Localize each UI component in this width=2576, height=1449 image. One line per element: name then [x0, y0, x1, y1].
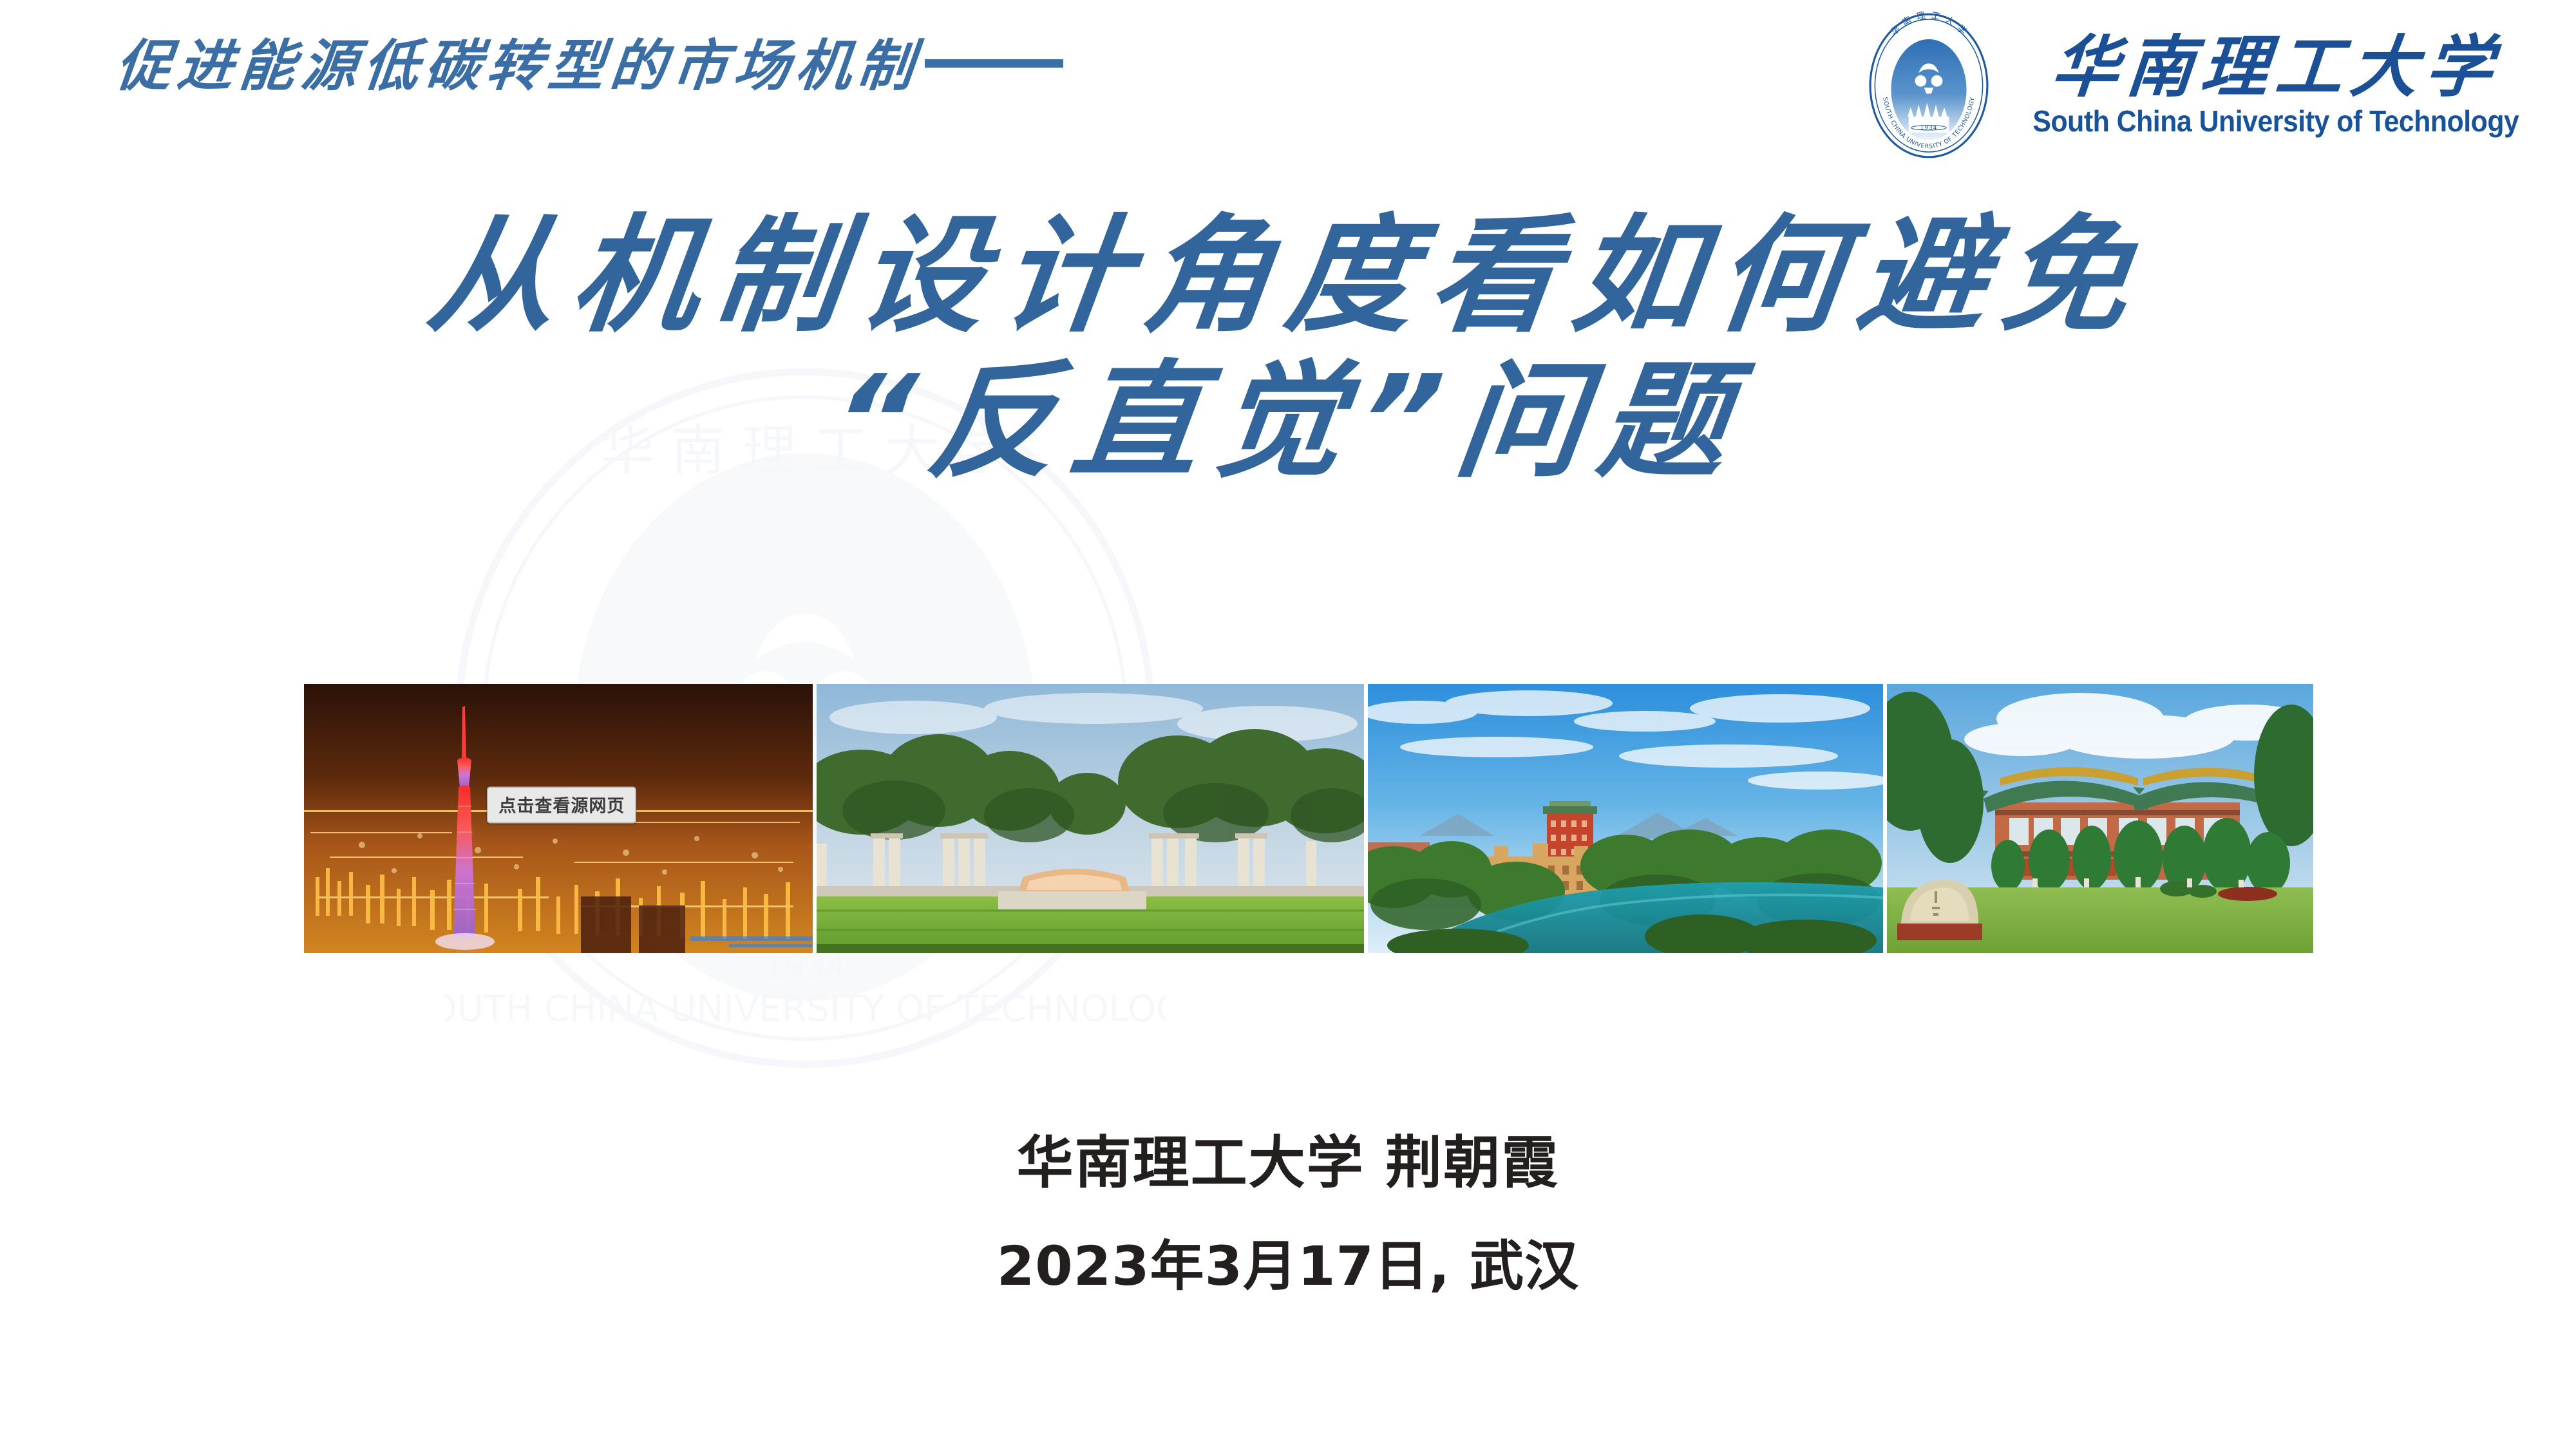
footer-date: 2023年3月17日, 武汉	[0, 1235, 2576, 1298]
title-slide: 华 南 理 工 大 学 SOUTH CHINA UNIVERSITY OF TE…	[0, 0, 2576, 1449]
logo-wordmark: 华南理工大学 South China University of Technol…	[2014, 33, 2537, 138]
logo-name-en: South China University of Technology	[2033, 104, 2519, 138]
header-subtitle: 促进能源低碳转型的市场机制	[116, 39, 1063, 94]
photo-campus-aerial-river-view	[1368, 684, 1883, 953]
title-line-2: “反直觉”问题	[0, 352, 2576, 493]
source-link-badge[interactable]: 点击查看源网页	[487, 787, 636, 824]
header-subtitle-text: 促进能源低碳转型的市场机制	[113, 39, 922, 94]
university-logo: 1934 华 南 理 工 大 学 SOUTH CHINA UNIVERSITY …	[1861, 12, 2537, 160]
svg-text:1934: 1934	[1920, 125, 1938, 131]
title-line-1: 从机制设计角度看如何避免	[0, 206, 2576, 348]
scut-seal-icon: 1934 华 南 理 工 大 学 SOUTH CHINA UNIVERSITY …	[1861, 12, 1996, 160]
svg-text:1934: 1934	[764, 947, 846, 985]
logo-name-cn: 华南理工大学	[2049, 33, 2503, 101]
photo-campus-heritage-hall-stone	[1887, 684, 2313, 953]
footer-author: 华南理工大学 荆朝霞	[0, 1130, 2576, 1195]
page-title: 从机制设计角度看如何避免 “反直觉”问题	[0, 206, 2576, 493]
photo-campus-colonnade-lawn	[817, 684, 1364, 953]
slide-footer: 华南理工大学 荆朝霞 2023年3月17日, 武汉	[0, 1130, 2576, 1298]
photo-guangzhou-night-skyline: 点击查看源网页	[304, 684, 813, 953]
svg-text:SOUTH CHINA UNIVERSITY OF TECH: SOUTH CHINA UNIVERSITY OF TECHNOLOGY	[444, 988, 1166, 1030]
photo-strip: 点击查看源网页	[304, 684, 2313, 953]
header-subtitle-dash	[925, 59, 1063, 68]
